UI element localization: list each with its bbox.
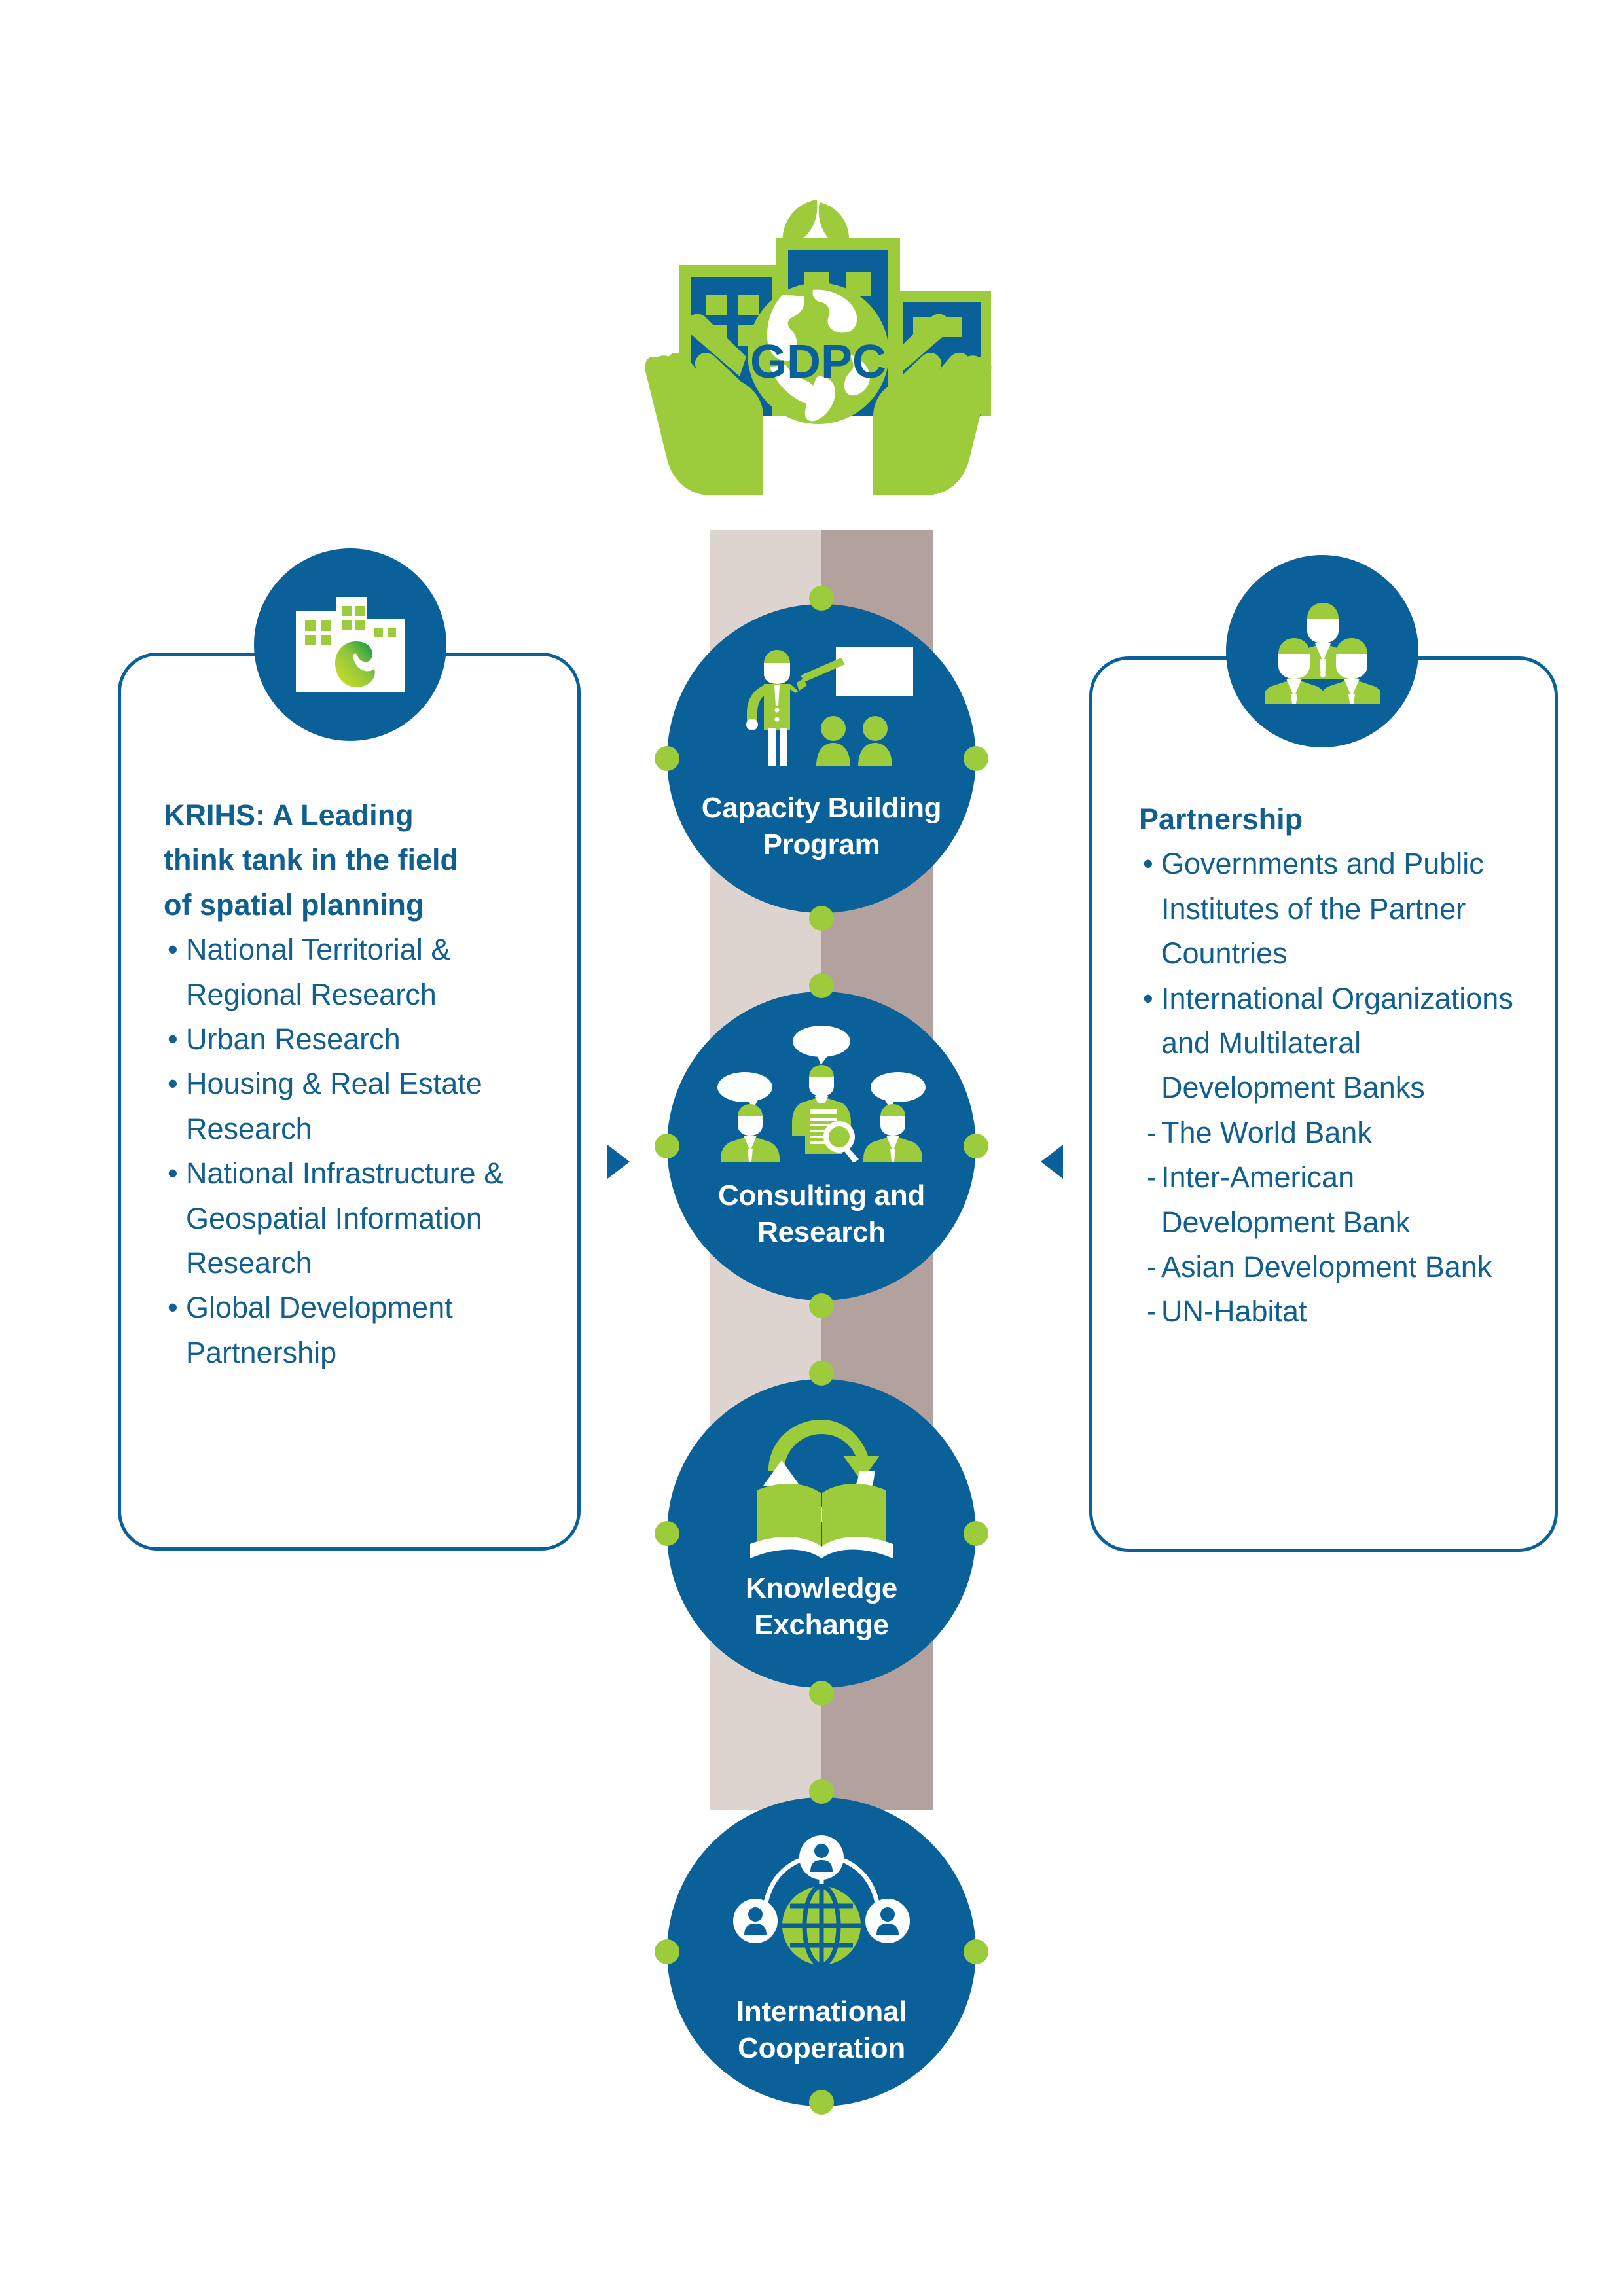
node-dot-left — [655, 1521, 679, 1546]
gdpc-logo-text: GDPC — [750, 336, 886, 388]
flow-node-label: Capacity Building Program — [667, 790, 976, 864]
list-item: Urban Research — [164, 1017, 556, 1062]
flow-node-label: Knowledge Exchange — [667, 1570, 976, 1644]
list-item: Asian Development Bank — [1139, 1245, 1525, 1289]
list-item: National Territorial & Regional Research — [164, 927, 556, 1017]
node-dot-top — [809, 586, 834, 611]
flow-node-consulting-and-research[interactable]: Consulting and Research — [667, 992, 976, 1300]
arrow-pointing-right-icon — [607, 1145, 630, 1179]
node-dot-left — [655, 1939, 679, 1964]
flow-node-label: International Cooperation — [667, 1994, 976, 2068]
node-dot-bottom — [809, 1293, 834, 1318]
node-dot-left — [655, 1134, 679, 1158]
list-item: Inter-American Development Bank — [1139, 1155, 1525, 1245]
node-dot-right — [964, 1134, 988, 1158]
node-dot-bottom — [809, 2090, 834, 2115]
node-dot-bottom — [809, 1681, 834, 1706]
list-item: Global Development Partnership — [164, 1285, 556, 1375]
krihs-panel-list: National Territorial & Regional Research… — [164, 927, 556, 1375]
node-dot-top — [809, 973, 834, 998]
node-dot-right — [964, 1939, 988, 1964]
list-item: International Organizations and Multilat… — [1139, 977, 1525, 1111]
node-dot-top — [809, 1361, 834, 1386]
flow-node-capacity-building-program[interactable]: Capacity Building Program — [667, 604, 976, 913]
list-item: National Infrastructure & Geospatial Inf… — [164, 1151, 556, 1285]
flow-node-international-cooperation[interactable]: International Cooperation — [667, 1797, 976, 2106]
partnership-panel-text: Partnership Governments and Public Insti… — [1139, 797, 1525, 1335]
node-dot-bottom — [809, 906, 834, 931]
flow-node-knowledge-exchange[interactable]: Knowledge Exchange — [667, 1379, 976, 1688]
gdpc-logo: GDPC — [641, 160, 995, 533]
krihs-panel-title-line-1: KRIHS: A Leading — [164, 793, 556, 838]
infographic-canvas: GDPC — [0, 0, 1624, 2296]
three-people-with-speech-bubbles-document-magnifier-icon — [667, 1024, 976, 1162]
list-item: The World Bank — [1139, 1111, 1525, 1155]
node-dot-left — [655, 746, 679, 771]
node-dot-right — [964, 1521, 988, 1546]
list-item: Governments and Public Institutes of the… — [1139, 842, 1525, 976]
group-of-people-icon — [1265, 599, 1380, 704]
list-item: Housing & Real Estate Research — [164, 1062, 556, 1151]
partnership-panel-title: Partnership — [1139, 797, 1525, 842]
node-dot-right — [964, 746, 988, 771]
cycle-arrows-over-open-book-icon — [667, 1409, 976, 1560]
arrow-pointing-left-icon — [1041, 1145, 1063, 1179]
krihs-panel-title-line-2: think tank in the field — [164, 838, 556, 882]
presenter-with-whiteboard-and-audience-icon — [667, 645, 976, 769]
globe-with-connected-people-icon — [667, 1834, 976, 1971]
krihs-panel-title-line-3: of spatial planning — [164, 883, 556, 927]
list-item: UN-Habitat — [1139, 1289, 1525, 1334]
krihs-panel-text: KRIHS: A Leading think tank in the field… — [164, 793, 556, 1375]
partnership-circle[interactable] — [1226, 555, 1418, 747]
krihs-building-logo-icon — [295, 594, 406, 696]
gdpc-logo-svg: GDPC — [641, 160, 995, 533]
partnership-panel-list: Governments and Public Institutes of the… — [1139, 842, 1525, 1334]
node-dot-top — [809, 1779, 834, 1804]
krihs-circle[interactable] — [254, 548, 446, 741]
flow-node-label: Consulting and Research — [667, 1177, 976, 1251]
